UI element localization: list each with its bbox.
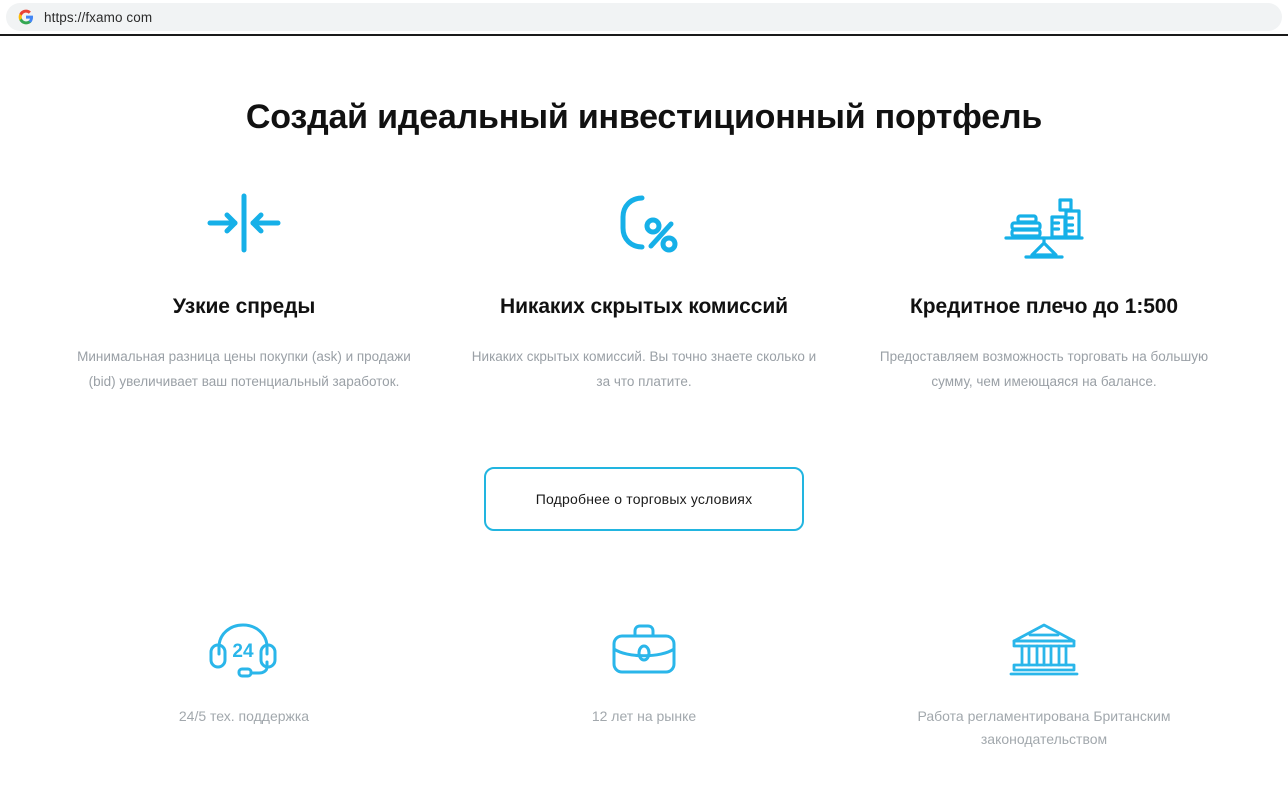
browser-address-bar: https://fxamo com <box>0 0 1288 36</box>
svg-text:24: 24 <box>232 641 254 662</box>
feature-description: Никаких скрытых комиссий. Вы точно знает… <box>464 345 824 395</box>
narrow-spread-arrows-icon <box>58 189 430 257</box>
feature-card-leverage: Кредитное плечо до 1:500 Предоставляем в… <box>844 189 1244 395</box>
balance-scale-coins-icon <box>858 189 1230 257</box>
url-text: https://fxamo com <box>44 10 152 25</box>
feature-title: Кредитное плечо до 1:500 <box>858 295 1230 319</box>
page-content: Создай идеальный инвестиционный портфель… <box>0 98 1288 804</box>
feature-description: Минимальная разница цены покупки (ask) и… <box>64 345 424 395</box>
trust-label: 24/5 тех. поддержка <box>89 705 399 728</box>
feature-list: Узкие спреды Минимальная разница цены по… <box>0 189 1288 395</box>
trust-label: Работа регламентирована Британским закон… <box>889 705 1199 751</box>
zero-percent-icon <box>458 189 830 257</box>
page-title: Создай идеальный инвестиционный портфель <box>0 98 1288 137</box>
trust-item-regulation: Работа регламентирована Британским закон… <box>844 619 1244 751</box>
trust-list: 24 24/5 тех. поддержка 12 лет на рынке <box>0 619 1288 751</box>
feature-card-spreads: Узкие спреды Минимальная разница цены по… <box>44 189 444 395</box>
trust-label: 12 лет на рынке <box>489 705 799 728</box>
bank-building-icon <box>864 619 1224 679</box>
feature-title: Никаких скрытых комиссий <box>458 295 830 319</box>
url-input[interactable]: https://fxamo com <box>6 3 1282 31</box>
feature-card-commissions: Никаких скрытых комиссий Никаких скрытых… <box>444 189 844 395</box>
google-g-icon <box>18 9 34 25</box>
trading-conditions-button[interactable]: Подробнее о торговых условиях <box>484 467 804 531</box>
feature-description: Предоставляем возможность торговать на б… <box>864 345 1224 395</box>
trust-item-experience: 12 лет на рынке <box>444 619 844 751</box>
trust-item-support: 24 24/5 тех. поддержка <box>44 619 444 751</box>
briefcase-icon <box>464 619 824 679</box>
cta-container: Подробнее о торговых условиях <box>0 467 1288 531</box>
headset-24-icon: 24 <box>64 619 424 679</box>
feature-title: Узкие спреды <box>58 295 430 319</box>
